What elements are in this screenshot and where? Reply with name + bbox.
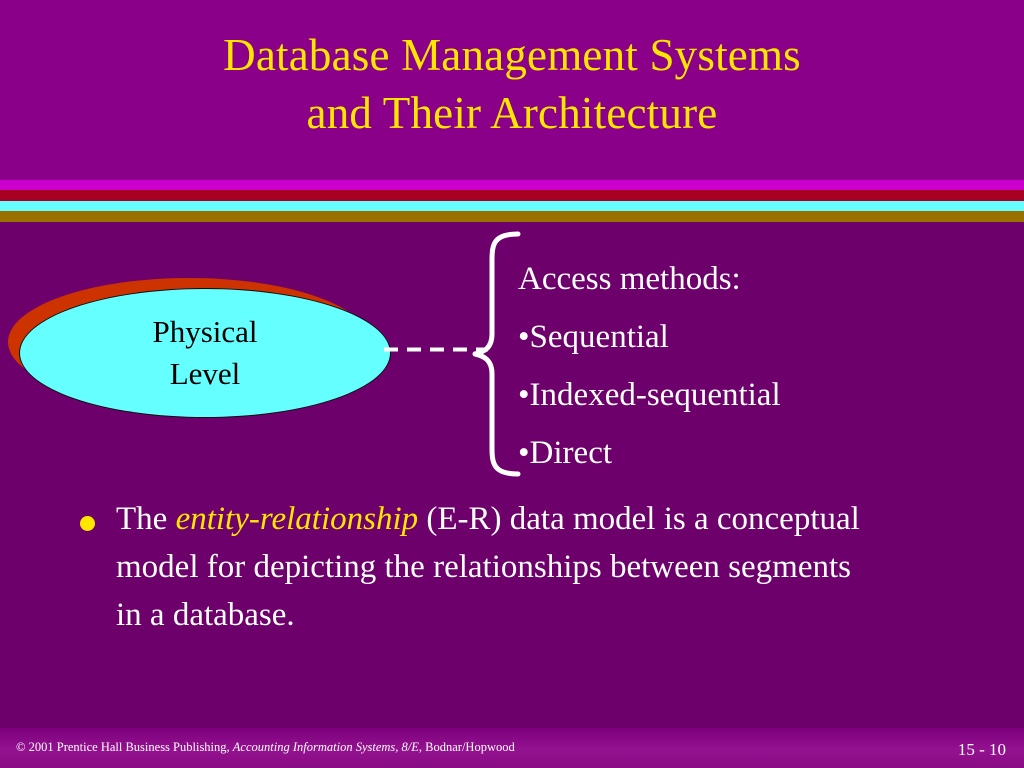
ellipse-label-line-2: Level xyxy=(170,353,241,395)
footer-copyright-prefix: © 2001 Prentice Hall Business Publishing… xyxy=(16,740,233,754)
bullet-dot-icon xyxy=(80,516,95,531)
slide-canvas: Database Management Systems and Their Ar… xyxy=(0,0,1024,768)
ellipse-shape: Physical Level xyxy=(19,288,391,418)
footer-copyright: © 2001 Prentice Hall Business Publishing… xyxy=(16,739,515,755)
access-method-item-sequential: •Sequential xyxy=(518,308,988,366)
stripe-dark-red xyxy=(0,190,1024,201)
physical-level-node: Physical Level xyxy=(8,278,398,433)
access-method-item-indexed-sequential: •Indexed-sequential xyxy=(518,366,988,424)
access-method-item-direct: •Direct xyxy=(518,424,988,482)
title-band: Database Management Systems and Their Ar… xyxy=(0,0,1024,180)
stripe-magenta xyxy=(0,180,1024,190)
stripe-olive xyxy=(0,211,1024,222)
page-number: 15 - 10 xyxy=(958,740,1006,760)
content-bullet-text: The entity-relationship (E-R) data model… xyxy=(116,495,866,639)
access-methods-heading: Access methods: xyxy=(518,250,988,308)
footer-copyright-suffix: , Bodnar/Hopwood xyxy=(419,740,515,754)
ellipse-label-line-1: Physical xyxy=(152,311,257,353)
bullet-text-emphasis: entity-relationship xyxy=(176,501,419,537)
bullet-text-part-1: The xyxy=(116,501,176,537)
content-bullet-row: The entity-relationship (E-R) data model… xyxy=(80,495,960,639)
decorative-stripe-rule xyxy=(0,180,1024,222)
page-title: Database Management Systems and Their Ar… xyxy=(0,26,1024,142)
access-methods-list: Access methods: •Sequential •Indexed-seq… xyxy=(518,250,988,482)
footer-book-title: Accounting Information Systems, 8/E xyxy=(233,740,419,754)
curly-brace-icon xyxy=(466,230,526,478)
stripe-cyan xyxy=(0,201,1024,211)
